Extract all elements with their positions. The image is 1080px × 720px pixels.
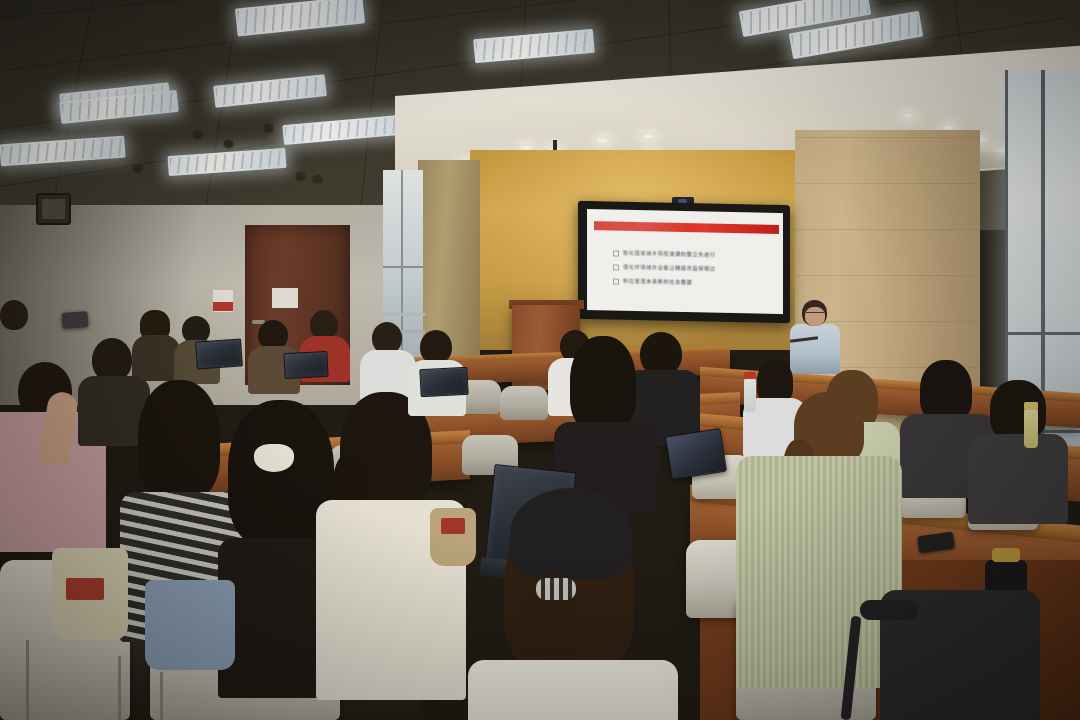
person-hair — [570, 336, 636, 432]
chair-armrest — [860, 600, 918, 620]
bottle-cap — [744, 372, 756, 379]
water-bottle — [1024, 408, 1038, 448]
bag-strap — [992, 548, 1020, 562]
baseball-cap — [510, 488, 632, 580]
downlight — [594, 137, 611, 144]
ceiling-speaker — [224, 140, 233, 147]
downlight — [640, 133, 657, 140]
presentation-display: 智化国家城乡风险浪潮的整立先进行 强化环境城外业能让精提共监保相过 新应置混未来… — [578, 201, 790, 323]
person-torso — [968, 434, 1068, 524]
lecture-room-photo: 智化国家城乡风险浪潮的整立先进行 强化环境城外业能让精提共监保相过 新应置混未来… — [0, 0, 1080, 720]
bottle-cap — [1024, 402, 1038, 410]
water-bottle — [744, 378, 756, 412]
tablet-device[interactable] — [665, 428, 727, 480]
laptop-screen[interactable] — [195, 338, 243, 369]
cream-bag-print — [66, 578, 104, 600]
ceiling-speaker — [313, 175, 322, 182]
tote-bag-print — [441, 518, 465, 534]
person-torso — [468, 660, 678, 720]
denim-jacket — [145, 580, 235, 670]
chair-leg — [118, 656, 121, 720]
tote-bag — [430, 508, 476, 566]
person-torso — [736, 456, 902, 688]
presenter-torso — [790, 324, 840, 374]
wall-sign-red-band — [213, 302, 233, 311]
chair-leg — [160, 672, 163, 720]
phone-held-up[interactable] — [61, 311, 88, 329]
door-notice-sign — [272, 288, 298, 308]
hair-tie-beads — [536, 578, 576, 600]
hair-scrunchie — [254, 444, 294, 472]
wall-clock — [36, 193, 71, 225]
downlight — [900, 112, 917, 119]
person-head — [0, 300, 28, 330]
chair-leg — [26, 640, 29, 720]
ceiling-speaker — [193, 130, 202, 137]
presenter-glasses — [806, 312, 824, 317]
screen-glare — [587, 209, 783, 314]
window-rail — [383, 313, 425, 316]
ceiling-speaker — [264, 124, 273, 131]
ceiling-speaker — [133, 164, 142, 171]
person-head — [420, 330, 452, 364]
chair[interactable] — [500, 386, 548, 420]
laptop-screen[interactable] — [283, 351, 328, 379]
laptop-screen[interactable] — [419, 367, 468, 397]
person-hair — [920, 360, 972, 422]
person-torso — [132, 335, 180, 381]
ceiling-speaker — [296, 172, 305, 179]
person-hair — [138, 380, 220, 500]
